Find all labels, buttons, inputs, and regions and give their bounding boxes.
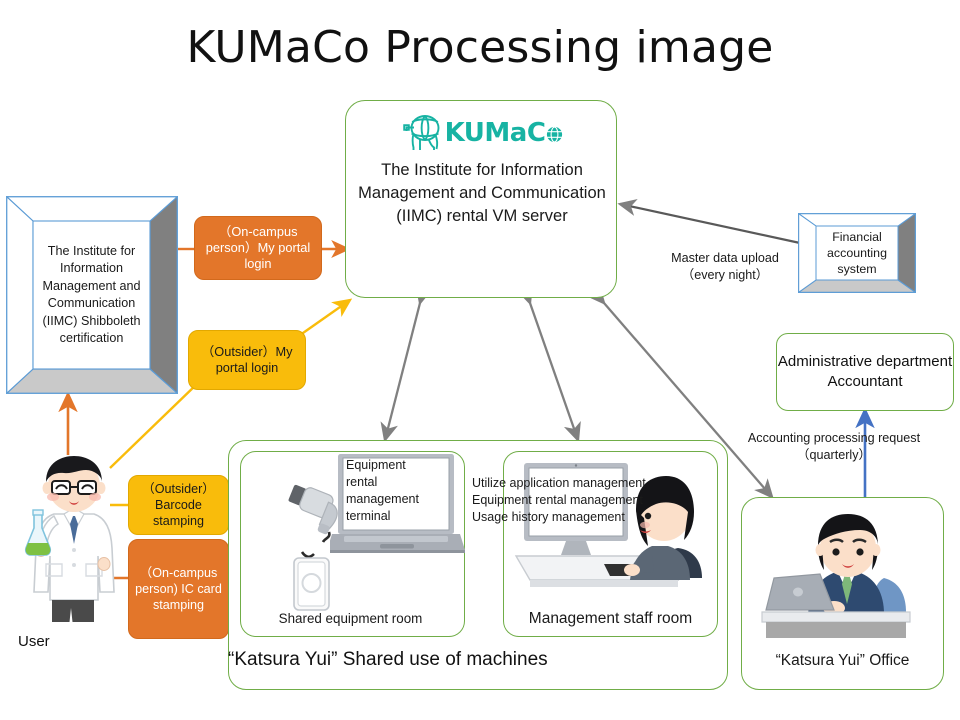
user-label: User: [18, 632, 138, 652]
financial-accounting-text: Financial accounting system: [817, 229, 897, 277]
office-worker-illustration: [760, 512, 932, 647]
administrative-department-text: Administrative department Accountant: [777, 352, 953, 392]
page-title: KUMaCo Processing image: [0, 22, 960, 73]
accounting-request-label: Accounting processing request （quarterly…: [728, 430, 940, 463]
financial-text-wrap: Financial accounting system: [817, 227, 897, 279]
barcode-scanner-icon: [285, 482, 357, 544]
iimc-shibboleth-text: The Institute for Information Management…: [34, 243, 149, 348]
pill-oncampus-portal-login-label: （On-campus person）My portal login: [195, 224, 321, 272]
diagram-canvas: KUMaCo Processing image: [0, 0, 960, 720]
kumaco-wordmark: KUMaC: [445, 118, 546, 148]
staff-room-function-lines: Utilize application management Equipment…: [472, 475, 682, 526]
pill-oncampus-ic-card-stamping[interactable]: （On-campus person) IC card stamping: [128, 539, 229, 639]
server-box-text: The Institute for Information Management…: [354, 159, 610, 228]
iimc-shibboleth-box[interactable]: The Institute for Information Management…: [6, 196, 178, 394]
katsura-yui-shared-caption: “Katsura Yui” Shared use of machines: [228, 648, 728, 672]
pill-outsider-portal-login-label: （Outsider）My portal login: [189, 344, 305, 376]
elephant-globe-icon: [401, 113, 445, 153]
equipment-rental-terminal-text: Equipment rental management terminal: [346, 457, 438, 525]
master-data-upload-label: Master data upload （every night）: [655, 250, 795, 283]
staff-room-line-3: Usage history management: [472, 509, 682, 526]
pill-outsider-barcode-label: （Outsider）Barcode stamping: [129, 481, 228, 529]
pill-outsider-portal-login[interactable]: （Outsider）My portal login: [188, 330, 306, 390]
administrative-department-box[interactable]: Administrative department Accountant: [776, 333, 954, 411]
user-avatar: [24, 452, 134, 622]
connector-server-staff-room: [530, 303, 578, 440]
pill-oncampus-ic-card-label: （On-campus person) IC card stamping: [129, 565, 228, 613]
barcode-scanner: [285, 482, 357, 544]
kumaco-server-box[interactable]: KUMaC The Institute for Information Mana…: [345, 100, 617, 298]
globe-o-icon: [546, 126, 563, 143]
pill-outsider-barcode-stamping[interactable]: （Outsider）Barcode stamping: [128, 475, 229, 535]
management-staff-room-caption: Management staff room: [508, 610, 713, 627]
kumaco-logo: KUMaC: [346, 111, 618, 155]
ic-card-reader-icon: [290, 550, 334, 612]
iimc-shibboleth-text-wrap: The Institute for Information Management…: [34, 222, 149, 368]
katsura-yui-office-caption: “Katsura Yui” Office: [741, 652, 944, 669]
staff-room-line-2: Equipment rental management: [472, 492, 682, 509]
shared-equipment-room-caption: Shared equipment room: [248, 610, 453, 627]
staff-room-line-1: Utilize application management: [472, 475, 682, 492]
pill-oncampus-portal-login[interactable]: （On-campus person）My portal login: [194, 216, 322, 280]
financial-accounting-box[interactable]: Financial accounting system: [798, 213, 916, 293]
businessman-laptop-icon: [760, 512, 932, 647]
connector-server-shared-equipment: [385, 303, 420, 440]
ic-card-reader: [290, 550, 334, 612]
connector-financial-to-server: [620, 204, 800, 243]
scientist-illustration: [24, 452, 134, 622]
